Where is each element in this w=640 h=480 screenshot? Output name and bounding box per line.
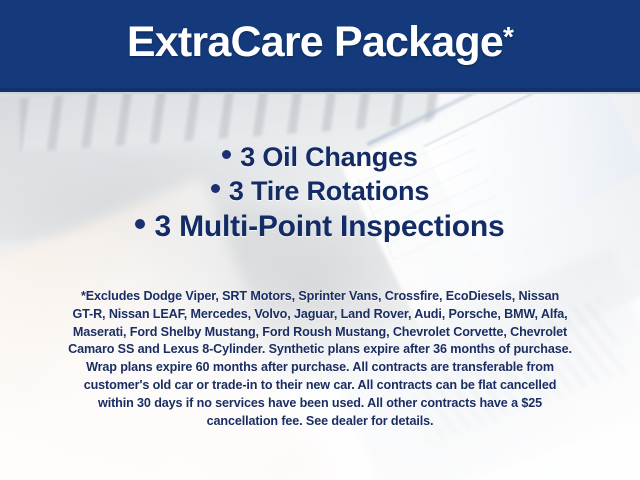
benefit-item-label: 3 Multi-Point Inspections (154, 210, 504, 243)
disclaimer-line: Camaro SS and Lexus 8-Cylinder. Syntheti… (30, 341, 610, 359)
disclaimer-line: within 30 days if no services have been … (30, 395, 610, 413)
promo-graphic: ExtraCare Package* 3 Oil Changes 3 Tire … (0, 0, 640, 480)
benefit-item-multi-point-inspections: 3 Multi-Point Inspections (0, 208, 640, 246)
benefits-list: 3 Oil Changes 3 Tire Rotations 3 Multi-P… (0, 140, 640, 246)
disclaimer-text: *Excludes Dodge Viper, SRT Motors, Sprin… (30, 288, 610, 431)
benefit-item-oil-changes: 3 Oil Changes (0, 140, 640, 174)
bullet-dot-icon (211, 184, 220, 193)
banner-bottom-rule-light (0, 92, 640, 94)
bullet-dot-icon (135, 219, 145, 229)
page-title-text: ExtraCare Package (127, 18, 503, 66)
disclaimer-line: *Excludes Dodge Viper, SRT Motors, Sprin… (30, 288, 610, 306)
page-title: ExtraCare Package* (127, 21, 513, 68)
benefit-item-label: 3 Oil Changes (240, 142, 417, 172)
disclaimer-line: cancellation fee. See dealer for details… (30, 413, 610, 431)
page-title-asterisk: * (503, 21, 513, 52)
disclaimer-line: GT-R, Nissan LEAF, Mercedes, Volvo, Jagu… (30, 306, 610, 324)
header-banner: ExtraCare Package* (0, 0, 640, 88)
benefit-item-label: 3 Tire Rotations (229, 176, 429, 206)
bullet-dot-icon (222, 150, 231, 159)
benefit-item-tire-rotations: 3 Tire Rotations (0, 174, 640, 208)
disclaimer-line: Maserati, Ford Shelby Mustang, Ford Rous… (30, 324, 610, 342)
disclaimer-line: Wrap plans expire 60 months after purcha… (30, 359, 610, 377)
disclaimer-line: customer's old car or trade-in to their … (30, 377, 610, 395)
